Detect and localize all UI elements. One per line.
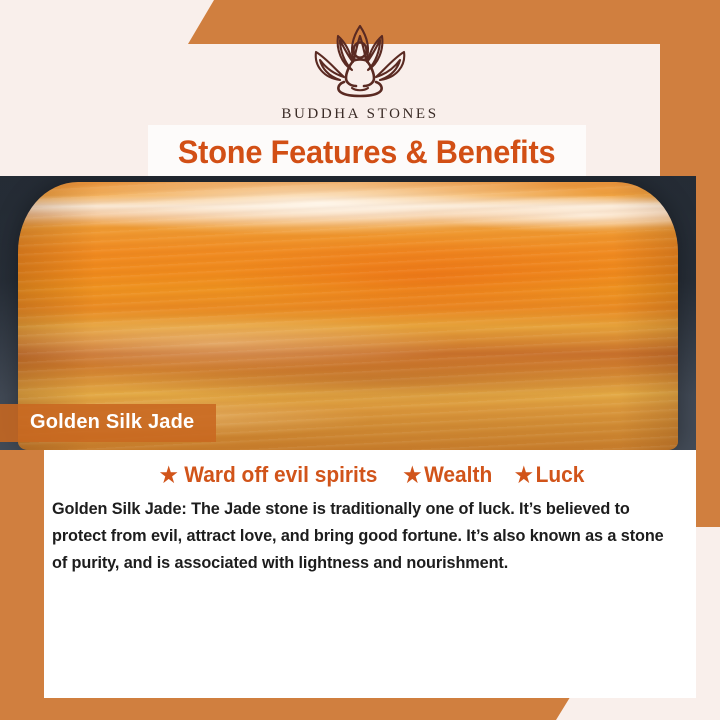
benefit-label: Ward off evil spirits [184, 462, 377, 488]
star-icon: ★ [515, 465, 533, 486]
benefits-row: ★ Ward off evil spirits ★ Wealth ★ Luck [44, 450, 696, 488]
infographic-page: BUDDHA STONES Stone Features & Benefits … [0, 0, 720, 720]
benefit-item: ★ Wealth [404, 462, 493, 488]
benefit-item: ★ Luck [515, 462, 585, 488]
page-title-card: Stone Features & Benefits [148, 125, 586, 179]
lotus-meditation-icon [294, 20, 426, 104]
photo-caption: Golden Silk Jade [0, 404, 216, 442]
benefit-item: ★ Ward off evil spirits [160, 462, 378, 488]
star-icon: ★ [404, 465, 422, 486]
stone-description: Golden Silk Jade: The Jade stone is trad… [52, 496, 667, 578]
brand-name: BUDDHA STONES [0, 106, 720, 123]
benefit-label: Wealth [424, 462, 492, 488]
star-icon: ★ [160, 465, 178, 486]
product-photo: Golden Silk Jade [0, 176, 696, 450]
page-title: Stone Features & Benefits [178, 134, 556, 171]
brand-logo: BUDDHA STONES [0, 20, 720, 123]
header: BUDDHA STONES Stone Features & Benefits [0, 0, 720, 178]
content-card: ★ Ward off evil spirits ★ Wealth ★ Luck … [44, 450, 696, 698]
benefit-label: Luck [535, 462, 584, 488]
